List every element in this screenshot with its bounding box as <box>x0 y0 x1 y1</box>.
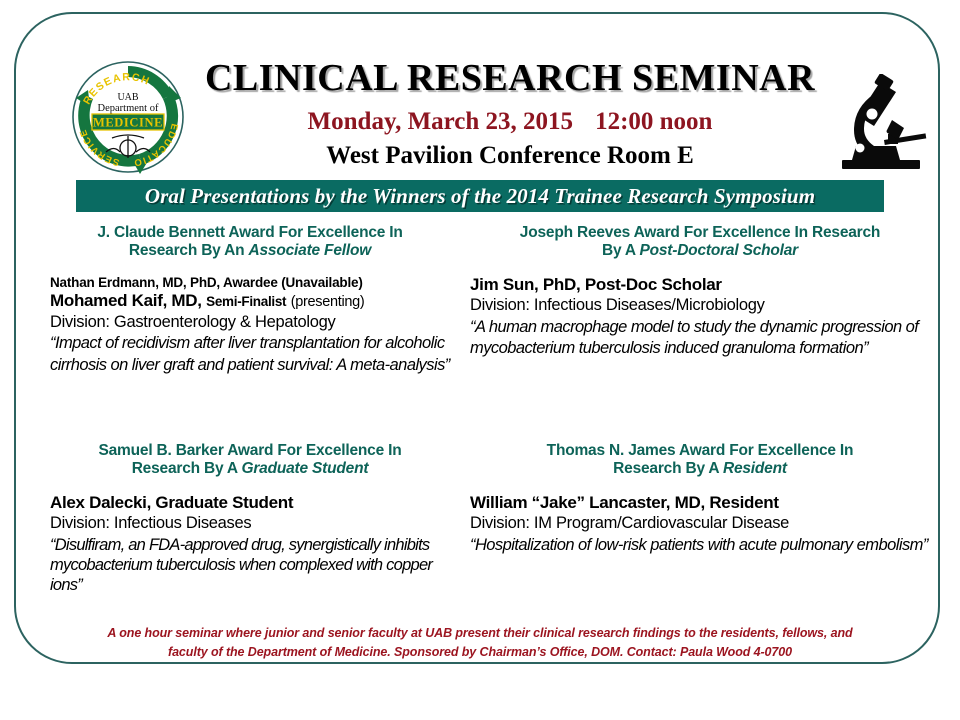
award-title-line2: By A <box>602 242 639 259</box>
award-entry-james: William “Jake” Lancaster, MD, Resident D… <box>470 493 930 557</box>
presenter-name-text: Mohamed Kaif, MD, <box>50 291 202 310</box>
award-title-line2: Research By A <box>132 460 242 477</box>
award-block-james: Thomas N. James Award For Excellence In … <box>470 442 930 556</box>
award-title-line1: J. Claude Bennett Award For Excellence I… <box>97 224 402 241</box>
svg-text:SERVICE: SERVICE <box>78 127 121 167</box>
award-title-barker: Samuel B. Barker Award For Excellence In… <box>50 442 450 479</box>
award-block-bennett: J. Claude Bennett Award For Excellence I… <box>50 224 450 377</box>
poster-footer: A one hour seminar where junior and seni… <box>70 624 890 663</box>
footer-line-2: faculty of the Department of Medicine. S… <box>70 643 890 662</box>
awardee-name-bennett: Nathan Erdmann, MD, PhD, Awardee (Unavai… <box>50 275 450 292</box>
seminar-time: 12:00 noon <box>595 108 712 135</box>
award-title-reeves: Joseph Reeves Award For Excellence In Re… <box>470 224 930 261</box>
award-role-james: Resident <box>723 460 787 477</box>
uab-department-of-medicine-logo-icon: RESEARCH EDUCATION SERVICE UAB Departmen… <box>68 58 188 176</box>
division-reeves: Division: Infectious Diseases/Microbiolo… <box>470 295 930 316</box>
svg-text:MEDICINE: MEDICINE <box>93 116 163 130</box>
award-title-james: Thomas N. James Award For Excellence In … <box>470 442 930 479</box>
page-title: CLINICAL RESEARCH SEMINAR <box>190 58 830 99</box>
presenter-name-james: William “Jake” Lancaster, MD, Resident <box>470 493 930 513</box>
award-role-barker: Graduate Student <box>241 460 368 477</box>
presenter-name-reeves: Jim Sun, PhD, Post-Doc Scholar <box>470 275 930 295</box>
award-entry-barker: Alex Dalecki, Graduate Student Division:… <box>50 493 450 595</box>
award-title-bennett: J. Claude Bennett Award For Excellence I… <box>50 224 450 261</box>
seminar-poster: RESEARCH EDUCATION SERVICE UAB Departmen… <box>0 0 960 720</box>
svg-text:UAB: UAB <box>117 92 138 103</box>
header-title-block: CLINICAL RESEARCH SEMINAR Monday, March … <box>190 58 830 169</box>
award-title-line1: Joseph Reeves Award For Excellence In Re… <box>520 224 880 241</box>
award-entry-reeves: Jim Sun, PhD, Post-Doc Scholar Division:… <box>470 275 930 361</box>
award-block-barker: Samuel B. Barker Award For Excellence In… <box>50 442 450 595</box>
award-role-bennett: Associate Fellow <box>249 242 372 259</box>
award-entry-bennett: Nathan Erdmann, MD, PhD, Awardee (Unavai… <box>50 275 450 377</box>
presenter-name-bennett: Mohamed Kaif, MD, Semi-Finalist (present… <box>50 291 450 311</box>
presenter-name-barker: Alex Dalecki, Graduate Student <box>50 493 450 513</box>
award-role-reeves: Post-Doctoral Scholar <box>639 242 798 259</box>
symposium-banner-text: Oral Presentations by the Winners of the… <box>145 184 815 209</box>
award-block-reeves: Joseph Reeves Award For Excellence In Re… <box>470 224 930 360</box>
award-title-line2: Research By A <box>613 460 723 477</box>
seminar-date: Monday, March 23, 2015 <box>308 108 574 135</box>
seminar-datetime: Monday, March 23, 201512:00 noon <box>190 108 830 136</box>
division-james: Division: IM Program/Cardiovascular Dise… <box>470 513 930 534</box>
poster-header: RESEARCH EDUCATION SERVICE UAB Departmen… <box>0 0 960 178</box>
paper-title-james: “Hospitalization of low-risk patients wi… <box>470 535 930 557</box>
paper-title-reeves: “A human macrophage model to study the d… <box>470 317 930 361</box>
award-title-line1: Samuel B. Barker Award For Excellence In <box>99 442 402 459</box>
paper-title-bennett: “Impact of recidivism after liver transp… <box>50 333 450 377</box>
microscope-icon <box>836 74 932 174</box>
division-bennett: Division: Gastroenterology & Hepatology <box>50 312 450 333</box>
svg-text:Department of: Department of <box>98 103 159 114</box>
footer-line-1: A one hour seminar where junior and seni… <box>70 624 890 643</box>
award-title-line2: Research By An <box>129 242 249 259</box>
division-barker: Division: Infectious Diseases <box>50 513 450 534</box>
award-title-line1: Thomas N. James Award For Excellence In <box>547 442 854 459</box>
presenter-rank-text: Semi-Finalist <box>206 294 286 309</box>
seminar-location: West Pavilion Conference Room E <box>190 142 830 170</box>
paper-title-barker: “Disulfiram, an FDA-approved drug, syner… <box>50 535 450 595</box>
symposium-banner: Oral Presentations by the Winners of the… <box>76 180 884 212</box>
presenter-note-text: (presenting) <box>291 294 365 310</box>
